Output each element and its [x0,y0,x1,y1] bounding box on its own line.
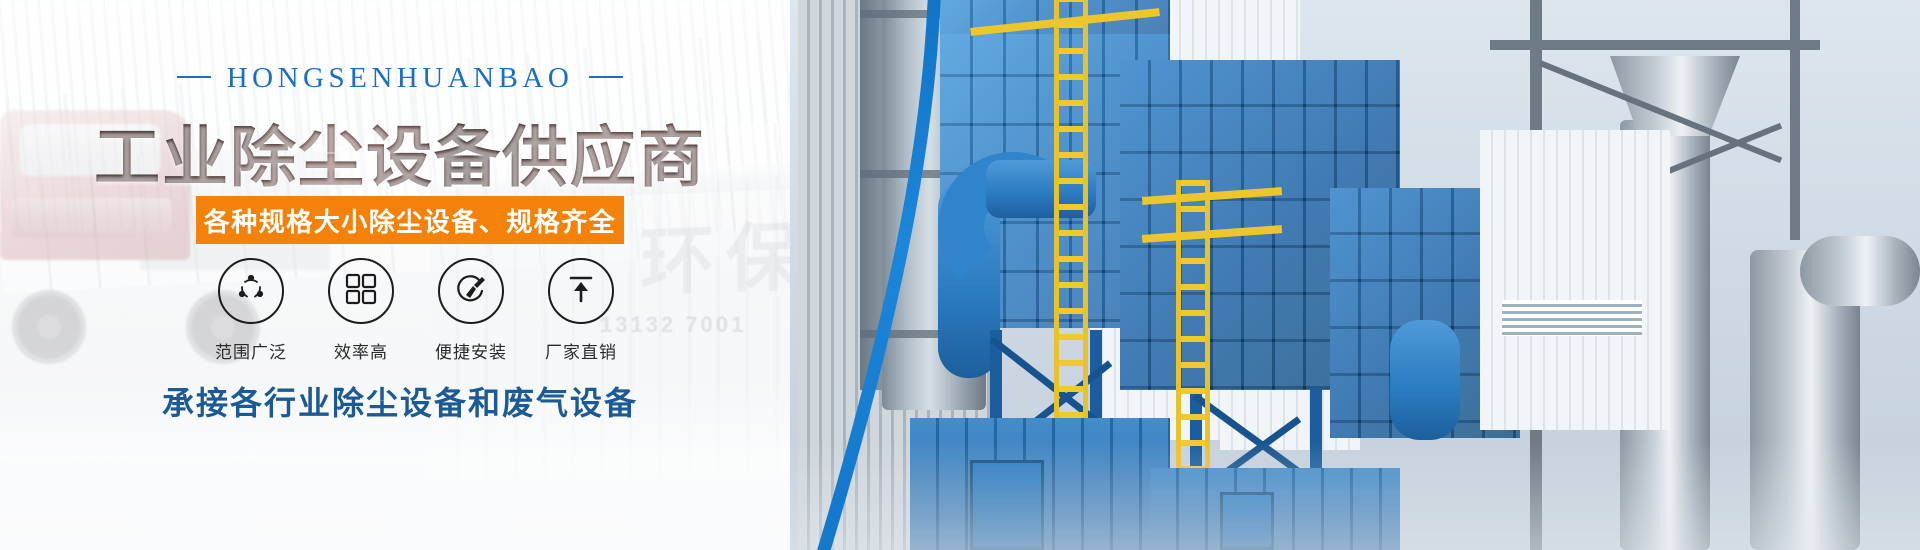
scrubber-drum [1800,236,1920,306]
feature-label: 厂家直销 [545,338,617,363]
steel-beam-top [1490,40,1820,50]
page-title: 工业除尘设备供应商 [0,104,800,200]
feature-icon-circle [438,258,504,324]
feature-item-factory-direct[interactable]: 厂家直销 [526,258,636,363]
subtitle-ribbon-text: 各种规格大小除尘设备、规格齐全 [204,202,617,239]
tagline: 承接各行业除尘设备和废气设备 [0,378,800,424]
feature-icon-circle [218,258,284,324]
wrench-circle-icon [453,271,489,312]
grid-squares-icon [344,272,378,311]
duct-secondary [1390,320,1460,440]
banner-content: HONGSENHUANBAO 工业除尘设备供应商 各种规格大小除尘设备、规格齐全 [0,0,800,550]
up-arrow-icon [564,272,598,311]
control-room-louver [1502,300,1642,336]
brand-eyebrow: HONGSENHUANBAO [0,62,800,95]
feature-icon-circle [328,258,394,324]
eyebrow-dash-right [589,76,623,78]
eyebrow-text: HONGSENHUANBAO [227,62,574,94]
control-room-building [1480,130,1670,430]
feature-label: 效率高 [334,338,388,363]
feature-item-wide-range[interactable]: 范围广泛 [196,258,306,363]
industrial-equipment-photo [790,0,1920,550]
feature-icon-circle [548,258,614,324]
feature-label: 范围广泛 [215,338,287,363]
subtitle-ribbon: 各种规格大小除尘设备、规格齐全 [196,196,624,244]
steel-column-2 [1790,0,1800,240]
feature-item-high-efficiency[interactable]: 效率高 [306,258,416,363]
feature-item-easy-install[interactable]: 便捷安装 [416,258,526,363]
hero-banner: 环保 13132 7001 [0,0,1920,550]
feature-label: 便捷安装 [435,338,507,363]
network-nodes-icon [233,271,269,312]
eyebrow-dash-left [177,76,211,78]
feature-list: 范围广泛 效率高 [196,258,696,363]
photo-bottom-haze [790,440,1920,550]
